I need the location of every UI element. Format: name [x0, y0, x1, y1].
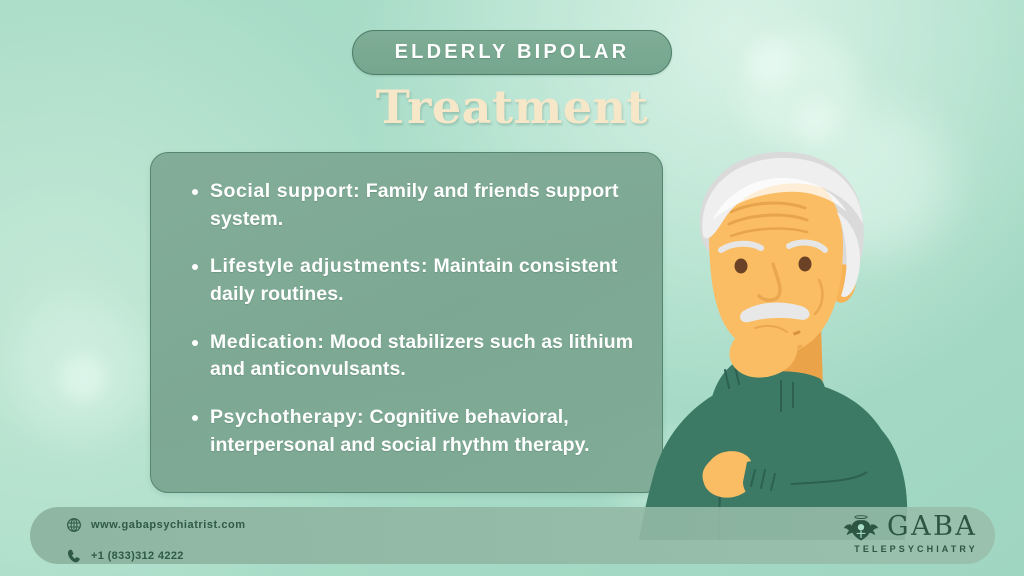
list-item-label: Psychotherapy: — [210, 406, 364, 428]
bokeh-circle — [10, 300, 150, 440]
page-title: Treatment — [0, 80, 1024, 134]
phone-row[interactable]: +1 (833)312 4222 — [66, 545, 246, 567]
phone-icon — [66, 548, 82, 564]
eye-left — [735, 259, 748, 274]
list-item-label: Social support: — [210, 180, 360, 202]
list-item-text: Medication: Mood stabilizers such as lit… — [210, 329, 662, 384]
globe-icon — [66, 517, 82, 533]
category-badge: ELDERLY BIPOLAR — [352, 30, 672, 75]
list-item: Medication: Mood stabilizers such as lit… — [192, 329, 662, 384]
list-item-text: Lifestyle adjustments: Maintain consiste… — [210, 253, 662, 308]
contact-info: www.gabapsychiatrist.com +1 (833)312 422… — [66, 514, 246, 567]
bullet-dot-icon — [192, 264, 198, 270]
brand-name: GABA — [887, 512, 977, 542]
list-item: Psychotherapy: Cognitive behavioral, int… — [192, 404, 662, 459]
brand-tagline: TELEPSYCHIATRY — [844, 544, 988, 554]
website-text: www.gabapsychiatrist.com — [91, 519, 246, 531]
category-badge-label: ELDERLY BIPOLAR — [395, 41, 630, 64]
bullet-dot-icon — [192, 340, 198, 346]
list-item: Social support: Family and friends suppo… — [192, 178, 662, 233]
list-item-text: Social support: Family and friends suppo… — [210, 178, 662, 233]
bokeh-circle — [60, 355, 106, 401]
poster-canvas: ELDERLY BIPOLAR Treatment Social support… — [0, 0, 1024, 576]
list-item-label: Medication: — [210, 331, 324, 353]
bullet-list: Social support: Family and friends suppo… — [192, 178, 662, 480]
bullet-dot-icon — [192, 415, 198, 421]
list-item-text: Psychotherapy: Cognitive behavioral, int… — [210, 404, 662, 459]
phone-text: +1 (833)312 4222 — [91, 550, 184, 562]
website-row[interactable]: www.gabapsychiatrist.com — [66, 514, 246, 536]
brand-logo[interactable]: GABA TELEPSYCHIATRY — [843, 512, 988, 560]
elderly-man-thinking-illustration — [605, 140, 1024, 540]
bullet-dot-icon — [192, 189, 198, 195]
list-item-label: Lifestyle adjustments: — [210, 255, 428, 277]
eye-right — [799, 257, 812, 272]
winged-crest-icon — [843, 514, 879, 544]
list-item: Lifestyle adjustments: Maintain consiste… — [192, 253, 662, 308]
